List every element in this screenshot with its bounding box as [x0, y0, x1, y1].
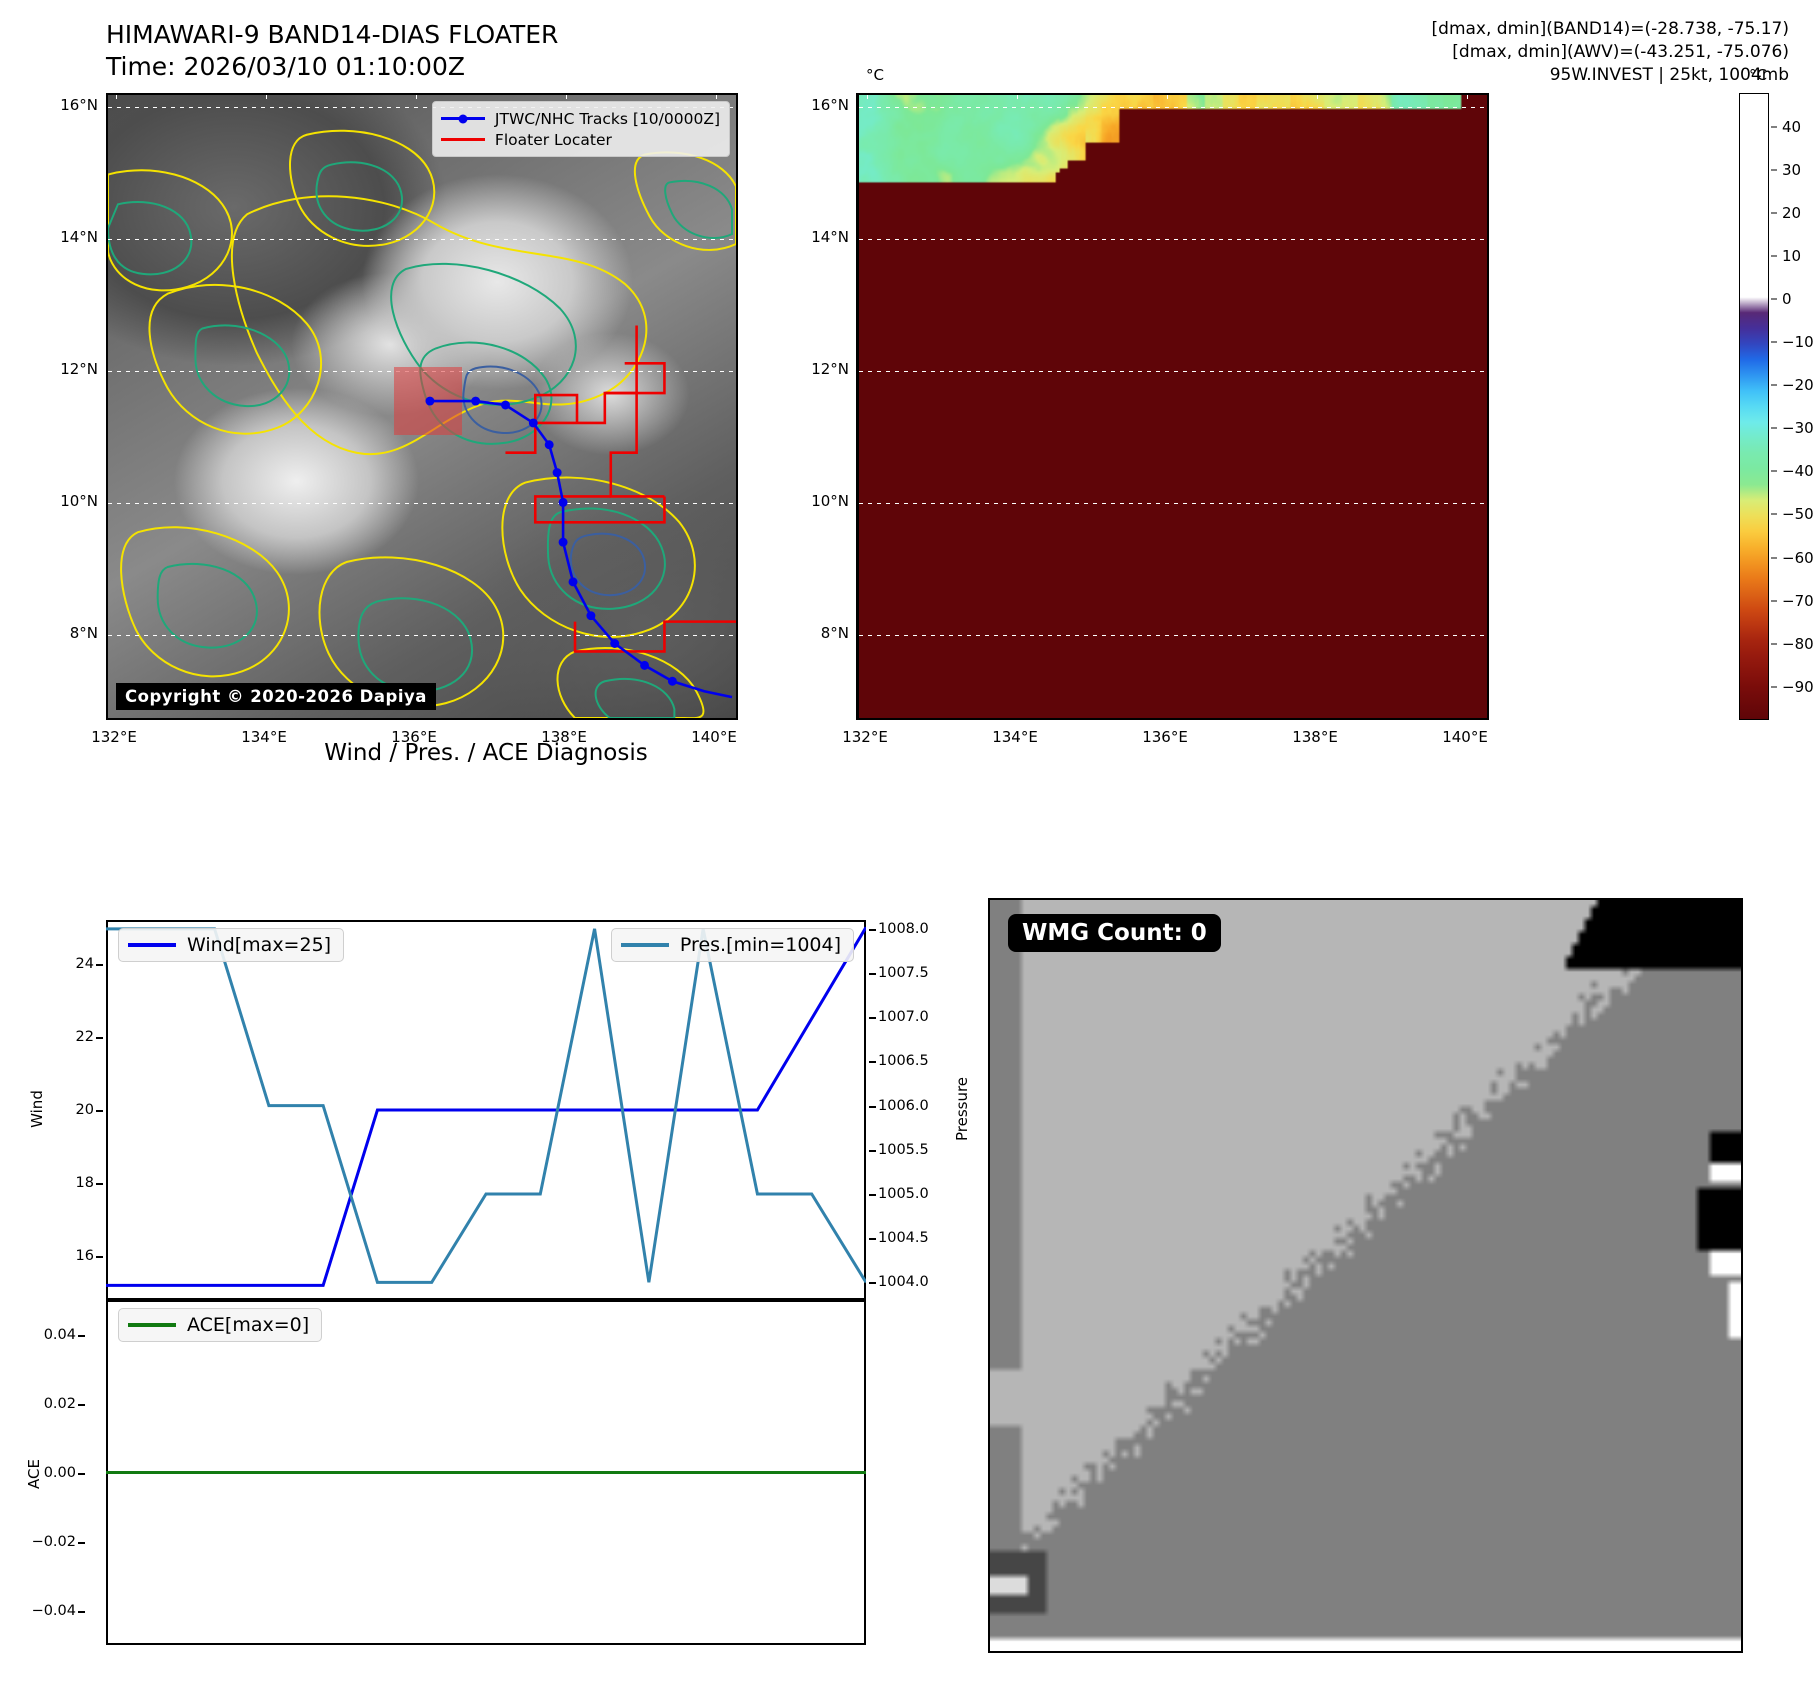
axis-tick-label: 1007.5 [878, 965, 929, 981]
axis-tick-label: 1008.0 [878, 921, 929, 937]
series-line [106, 927, 866, 1285]
ir-ytick: 12°N [48, 360, 98, 378]
metadata-band14: [dmax, dmin](BAND14)=(-28.738, -75.17) [1432, 18, 1789, 41]
axis-tick-mark [869, 1150, 876, 1152]
wind-legend-label: Wind[max=25] [187, 934, 331, 956]
ir-xtick: 140°E [691, 728, 737, 746]
colorbar-tick: 40 [1782, 118, 1801, 136]
awv-ytick: 16°N [799, 96, 849, 114]
colorbar-tick: 10 [1782, 247, 1801, 265]
axis-tick-label: 1005.0 [878, 1186, 929, 1202]
metadata-awv: [dmax, dmin](AWV)=(-43.251, -75.076) [1432, 41, 1789, 64]
colorbar-tick: −10 [1782, 333, 1813, 351]
axis-tick-label: 0.00 [20, 1465, 76, 1481]
axis-tick-mark [78, 1473, 85, 1475]
metadata-block: [dmax, dmin](BAND14)=(-28.738, -75.17) [… [1432, 18, 1789, 87]
ir-ytick: 16°N [48, 96, 98, 114]
axis-tick-mark [78, 1335, 85, 1337]
axis-tick-mark [869, 1106, 876, 1108]
wind-line-swatch [128, 943, 176, 947]
series-line [106, 929, 866, 1282]
awv-ytick: 14°N [799, 228, 849, 246]
axis-tick-label: 1004.5 [878, 1230, 929, 1246]
axis-tick-mark [96, 1183, 103, 1185]
wmg-map[interactable]: WMG Count: 0 [988, 898, 1743, 1653]
tracks-line-swatch [441, 117, 485, 120]
ace-line-swatch [128, 1323, 176, 1327]
colorbar-tick: −90 [1782, 678, 1813, 696]
diagnosis-title: Wind / Pres. / ACE Diagnosis [324, 740, 647, 766]
awv-xtick: 138°E [1292, 728, 1338, 746]
floater-line-swatch [441, 138, 485, 141]
ir-ytick: 10°N [48, 492, 98, 510]
pressure-axis-label: Pressure [953, 1059, 971, 1159]
axis-tick-mark [869, 1238, 876, 1240]
awv-colorbar-title: °C [1749, 66, 1767, 84]
axis-tick-mark [78, 1611, 85, 1613]
page-title: HIMAWARI-9 BAND14-DIAS FLOATER [106, 20, 558, 49]
axis-tick-mark [869, 973, 876, 975]
awv-ytick: 12°N [799, 360, 849, 378]
axis-tick-label: 1006.5 [878, 1053, 929, 1069]
axis-tick-label: 20 [38, 1102, 94, 1118]
pressure-legend: Pres.[min=1004] [611, 928, 854, 962]
awv-ytick: 10°N [799, 492, 849, 510]
axis-tick-mark [96, 964, 103, 966]
axis-tick-label: 0.04 [20, 1327, 76, 1343]
axis-tick-label: 24 [38, 956, 94, 972]
ir-colorbar-title: °C [866, 66, 884, 84]
axis-tick-mark [869, 1017, 876, 1019]
axis-tick-label: 0.02 [20, 1396, 76, 1412]
ace-chart[interactable]: ACE[max=0] [106, 1300, 866, 1645]
colorbar-tick: −40 [1782, 462, 1813, 480]
axis-tick-mark [78, 1542, 85, 1544]
axis-tick-mark [869, 929, 876, 931]
legend-label-tracks: JTWC/NHC Tracks [10/0000Z] [495, 110, 720, 128]
ir-ytick: 8°N [48, 624, 98, 642]
ir-ytick: 14°N [48, 228, 98, 246]
colorbar-tick: −50 [1782, 505, 1813, 523]
ace-series [106, 1300, 866, 1645]
copyright-watermark: Copyright © 2020-2026 Dapiya [116, 683, 436, 710]
awv-satellite-map[interactable] [857, 93, 1489, 720]
page-timestamp: Time: 2026/03/10 01:10:00Z [106, 52, 465, 81]
storm-track-overlay [108, 95, 736, 718]
wind-pressure-series [106, 920, 866, 1300]
colorbar-tick: 0 [1782, 290, 1792, 308]
legend-item-floater: Floater Locater [441, 129, 720, 150]
wind-legend: Wind[max=25] [118, 928, 344, 962]
axis-tick-label: −0.04 [20, 1603, 76, 1619]
awv-xtick: 134°E [992, 728, 1038, 746]
axis-tick-mark [96, 1256, 103, 1258]
axis-tick-label: 22 [38, 1029, 94, 1045]
legend-item-tracks: JTWC/NHC Tracks [10/0000Z] [441, 108, 720, 129]
pressure-legend-label: Pres.[min=1004] [680, 934, 841, 956]
metadata-storm: 95W.INVEST | 25kt, 1004mb [1432, 64, 1789, 87]
colorbar-tick: −60 [1782, 549, 1813, 567]
colorbar-tick: −70 [1782, 592, 1813, 610]
wmg-raster [990, 900, 1741, 1651]
tracks-marker-icon [458, 114, 467, 123]
axis-tick-label: 1005.5 [878, 1142, 929, 1158]
axis-tick-label: 1004.0 [878, 1274, 929, 1290]
awv-xtick: 140°E [1442, 728, 1488, 746]
wmg-count-badge: WMG Count: 0 [1008, 914, 1221, 952]
ir-xtick: 132°E [91, 728, 137, 746]
colorbar-tick: −30 [1782, 419, 1813, 437]
ir-satellite-map[interactable]: JTWC/NHC Tracks [10/0000Z] Floater Locat… [106, 93, 738, 720]
awv-colorbar [1739, 93, 1769, 720]
axis-tick-label: −0.02 [20, 1534, 76, 1550]
axis-tick-mark [78, 1404, 85, 1406]
ace-legend-label: ACE[max=0] [187, 1314, 309, 1336]
floater-dashboard: HIMAWARI-9 BAND14-DIAS FLOATER Time: 202… [0, 0, 1813, 1690]
map-legend: JTWC/NHC Tracks [10/0000Z] Floater Locat… [432, 101, 730, 157]
awv-xtick: 132°E [842, 728, 888, 746]
awv-imagery [859, 95, 1487, 718]
pressure-line-swatch [621, 943, 669, 947]
axis-tick-mark [869, 1282, 876, 1284]
ir-xtick: 134°E [241, 728, 287, 746]
axis-tick-label: 16 [38, 1248, 94, 1264]
axis-tick-label: 18 [38, 1175, 94, 1191]
axis-tick-label: 1007.0 [878, 1009, 929, 1025]
axis-tick-mark [869, 1061, 876, 1063]
axis-tick-mark [869, 1194, 876, 1196]
axis-tick-mark [96, 1037, 103, 1039]
awv-ytick: 8°N [799, 624, 849, 642]
awv-xtick: 136°E [1142, 728, 1188, 746]
ace-legend: ACE[max=0] [118, 1308, 322, 1342]
wind-pressure-chart[interactable]: Wind[max=25] Pres.[min=1004] [106, 920, 866, 1300]
colorbar-tick: 20 [1782, 204, 1801, 222]
axis-tick-label: 1006.0 [878, 1098, 929, 1114]
legend-label-floater: Floater Locater [495, 131, 612, 149]
axis-tick-mark [96, 1110, 103, 1112]
colorbar-tick: −20 [1782, 376, 1813, 394]
colorbar-tick: −80 [1782, 635, 1813, 653]
colorbar-tick: 30 [1782, 161, 1801, 179]
